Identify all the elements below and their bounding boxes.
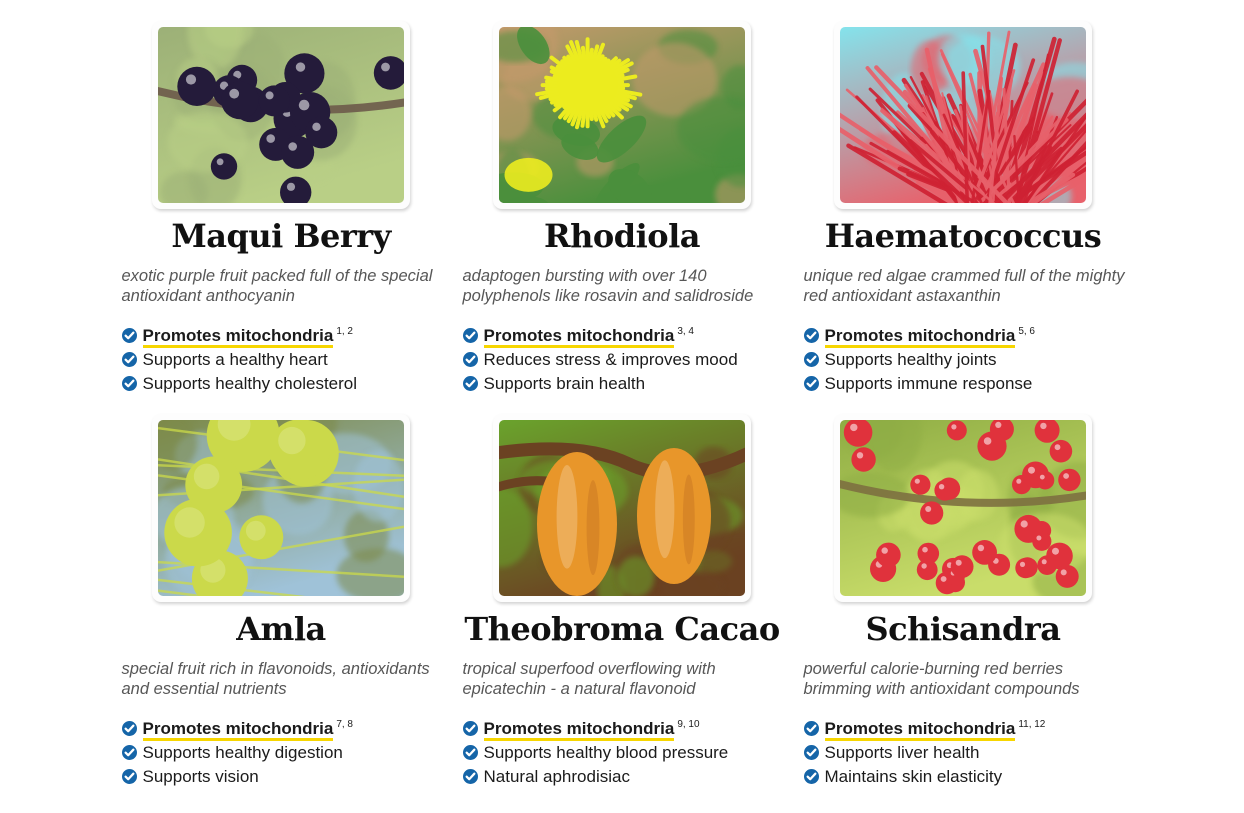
- check-circle-icon: [804, 745, 819, 760]
- benefit-reference-superscript: 7, 8: [336, 719, 353, 730]
- benefit-label: Supports healthy digestion: [143, 743, 343, 762]
- check-circle-icon: [463, 721, 478, 736]
- benefit-label-wrap: Supports brain health: [484, 372, 646, 396]
- ingredient-photo-frame-schisandra: [834, 414, 1092, 602]
- benefit-reference-superscript: 3, 4: [677, 326, 694, 337]
- benefit-item: Supports healthy joints: [804, 348, 1131, 372]
- benefit-label-wrap: Supports vision: [143, 765, 259, 789]
- benefit-label-wrap: Promotes mitochondria9, 10: [484, 713, 700, 741]
- benefit-item: Reduces stress & improves mood: [463, 348, 790, 372]
- ingredient-card-haematococcus: Haematococcus unique red algae crammed f…: [793, 21, 1134, 414]
- benefit-item[interactable]: Promotes mitochondria9, 10: [463, 713, 790, 741]
- benefit-label[interactable]: Promotes mitochondria: [825, 326, 1016, 348]
- benefit-label-wrap: Promotes mitochondria5, 6: [825, 320, 1036, 348]
- benefit-label-wrap: Supports liver health: [825, 741, 980, 765]
- benefit-label: Supports immune response: [825, 374, 1033, 393]
- check-circle-icon: [463, 376, 478, 391]
- ingredient-description-theobroma-cacao: tropical superfood overflowing with epic…: [455, 659, 790, 699]
- benefit-reference-superscript: 9, 10: [677, 719, 699, 730]
- benefit-label: Natural aphrodisiac: [484, 767, 630, 786]
- benefit-label: Supports healthy cholesterol: [143, 374, 358, 393]
- ingredient-photo-frame-amla: [152, 414, 410, 602]
- check-circle-icon: [804, 328, 819, 343]
- benefit-list-maqui-berry: Promotes mitochondria1, 2Supports a heal…: [114, 320, 449, 396]
- benefit-label[interactable]: Promotes mitochondria: [484, 326, 675, 348]
- benefit-label[interactable]: Promotes mitochondria: [143, 719, 334, 741]
- benefit-label[interactable]: Promotes mitochondria: [825, 719, 1016, 741]
- check-circle-icon: [463, 352, 478, 367]
- ingredient-card-maqui-berry: Maqui Berry exotic purple fruit packed f…: [111, 21, 452, 414]
- check-circle-icon: [122, 328, 137, 343]
- benefit-list-schisandra: Promotes mitochondria11, 12Supports live…: [796, 713, 1131, 789]
- check-circle-icon: [122, 745, 137, 760]
- benefit-item[interactable]: Promotes mitochondria3, 4: [463, 320, 790, 348]
- ingredient-title-schisandra: Schisandra: [796, 613, 1131, 645]
- benefit-item: Natural aphrodisiac: [463, 765, 790, 789]
- ingredient-photo-frame-rhodiola: [493, 21, 751, 209]
- ingredient-card-theobroma-cacao: Theobroma Cacao tropical superfood overf…: [452, 414, 793, 807]
- benefit-label-wrap: Promotes mitochondria1, 2: [143, 320, 354, 348]
- benefit-label: Supports vision: [143, 767, 259, 786]
- benefit-item: Supports liver health: [804, 741, 1131, 765]
- amla-photo-icon: [158, 420, 404, 596]
- check-circle-icon: [463, 769, 478, 784]
- benefit-label: Supports healthy joints: [825, 350, 997, 369]
- ingredient-description-haematococcus: unique red algae crammed full of the mig…: [796, 266, 1131, 306]
- ingredient-photo-frame-haematococcus: [834, 21, 1092, 209]
- benefit-label: Supports brain health: [484, 374, 646, 393]
- benefit-label: Supports liver health: [825, 743, 980, 762]
- ingredient-title-maqui-berry: Maqui Berry: [114, 220, 449, 252]
- haematococcus-photo-icon: [840, 27, 1086, 203]
- rhodiola-photo-icon: [499, 27, 745, 203]
- benefit-label: Supports healthy blood pressure: [484, 743, 729, 762]
- benefit-label-wrap: Supports healthy digestion: [143, 741, 343, 765]
- benefit-reference-superscript: 11, 12: [1018, 719, 1045, 730]
- benefit-label-wrap: Supports a healthy heart: [143, 348, 328, 372]
- check-circle-icon: [122, 352, 137, 367]
- benefit-item: Supports healthy blood pressure: [463, 741, 790, 765]
- benefit-item[interactable]: Promotes mitochondria5, 6: [804, 320, 1131, 348]
- benefit-label-wrap: Supports healthy joints: [825, 348, 997, 372]
- benefit-label-wrap: Supports immune response: [825, 372, 1033, 396]
- ingredient-photo-frame-theobroma-cacao: [493, 414, 751, 602]
- benefit-list-theobroma-cacao: Promotes mitochondria9, 10Supports healt…: [455, 713, 790, 789]
- benefit-label[interactable]: Promotes mitochondria: [143, 326, 334, 348]
- schisandra-photo-icon: [840, 420, 1086, 596]
- ingredient-card-amla: Amla special fruit rich in flavonoids, a…: [111, 414, 452, 807]
- benefit-list-amla: Promotes mitochondria7, 8Supports health…: [114, 713, 449, 789]
- benefit-item: Supports immune response: [804, 372, 1131, 396]
- benefit-label[interactable]: Promotes mitochondria: [484, 719, 675, 741]
- benefit-item[interactable]: Promotes mitochondria11, 12: [804, 713, 1131, 741]
- benefit-item: Supports brain health: [463, 372, 790, 396]
- check-circle-icon: [463, 328, 478, 343]
- benefit-reference-superscript: 1, 2: [336, 326, 353, 337]
- ingredient-description-rhodiola: adaptogen bursting with over 140 polyphe…: [455, 266, 790, 306]
- benefit-label-wrap: Promotes mitochondria7, 8: [143, 713, 354, 741]
- ingredient-photo-frame-maqui-berry: [152, 21, 410, 209]
- benefit-label: Supports a healthy heart: [143, 350, 328, 369]
- benefit-label-wrap: Maintains skin elasticity: [825, 765, 1003, 789]
- ingredient-title-theobroma-cacao: Theobroma Cacao: [455, 613, 790, 645]
- check-circle-icon: [122, 721, 137, 736]
- benefit-list-haematococcus: Promotes mitochondria5, 6Supports health…: [796, 320, 1131, 396]
- benefit-item: Supports healthy digestion: [122, 741, 449, 765]
- benefit-item: Supports a healthy heart: [122, 348, 449, 372]
- benefit-label: Reduces stress & improves mood: [484, 350, 738, 369]
- theobroma-cacao-photo-icon: [499, 420, 745, 596]
- ingredient-title-amla: Amla: [114, 613, 449, 645]
- benefit-label-wrap: Natural aphrodisiac: [484, 765, 630, 789]
- ingredient-title-rhodiola: Rhodiola: [455, 220, 790, 252]
- check-circle-icon: [804, 352, 819, 367]
- check-circle-icon: [804, 769, 819, 784]
- benefit-label: Maintains skin elasticity: [825, 767, 1003, 786]
- check-circle-icon: [804, 376, 819, 391]
- ingredient-description-maqui-berry: exotic purple fruit packed full of the s…: [114, 266, 449, 306]
- benefit-item: Supports vision: [122, 765, 449, 789]
- benefit-item: Maintains skin elasticity: [804, 765, 1131, 789]
- benefit-list-rhodiola: Promotes mitochondria3, 4Reduces stress …: [455, 320, 790, 396]
- check-circle-icon: [122, 769, 137, 784]
- benefit-label-wrap: Promotes mitochondria3, 4: [484, 320, 695, 348]
- check-circle-icon: [122, 376, 137, 391]
- benefit-reference-superscript: 5, 6: [1018, 326, 1035, 337]
- benefit-label-wrap: Promotes mitochondria11, 12: [825, 713, 1046, 741]
- ingredient-title-haematococcus: Haematococcus: [796, 220, 1131, 252]
- benefit-label-wrap: Reduces stress & improves mood: [484, 348, 738, 372]
- benefit-item: Supports healthy cholesterol: [122, 372, 449, 396]
- benefit-item[interactable]: Promotes mitochondria1, 2: [122, 320, 449, 348]
- maqui-berry-photo-icon: [158, 27, 404, 203]
- ingredient-description-schisandra: powerful calorie-burning red berries bri…: [796, 659, 1131, 699]
- ingredient-card-grid: Maqui Berry exotic purple fruit packed f…: [0, 0, 1244, 807]
- check-circle-icon: [463, 745, 478, 760]
- ingredient-card-schisandra: Schisandra powerful calorie-burning red …: [793, 414, 1134, 807]
- ingredient-description-amla: special fruit rich in flavonoids, antiox…: [114, 659, 449, 699]
- benefit-item[interactable]: Promotes mitochondria7, 8: [122, 713, 449, 741]
- check-circle-icon: [804, 721, 819, 736]
- benefit-label-wrap: Supports healthy cholesterol: [143, 372, 358, 396]
- ingredient-card-rhodiola: Rhodiola adaptogen bursting with over 14…: [452, 21, 793, 414]
- benefit-label-wrap: Supports healthy blood pressure: [484, 741, 729, 765]
